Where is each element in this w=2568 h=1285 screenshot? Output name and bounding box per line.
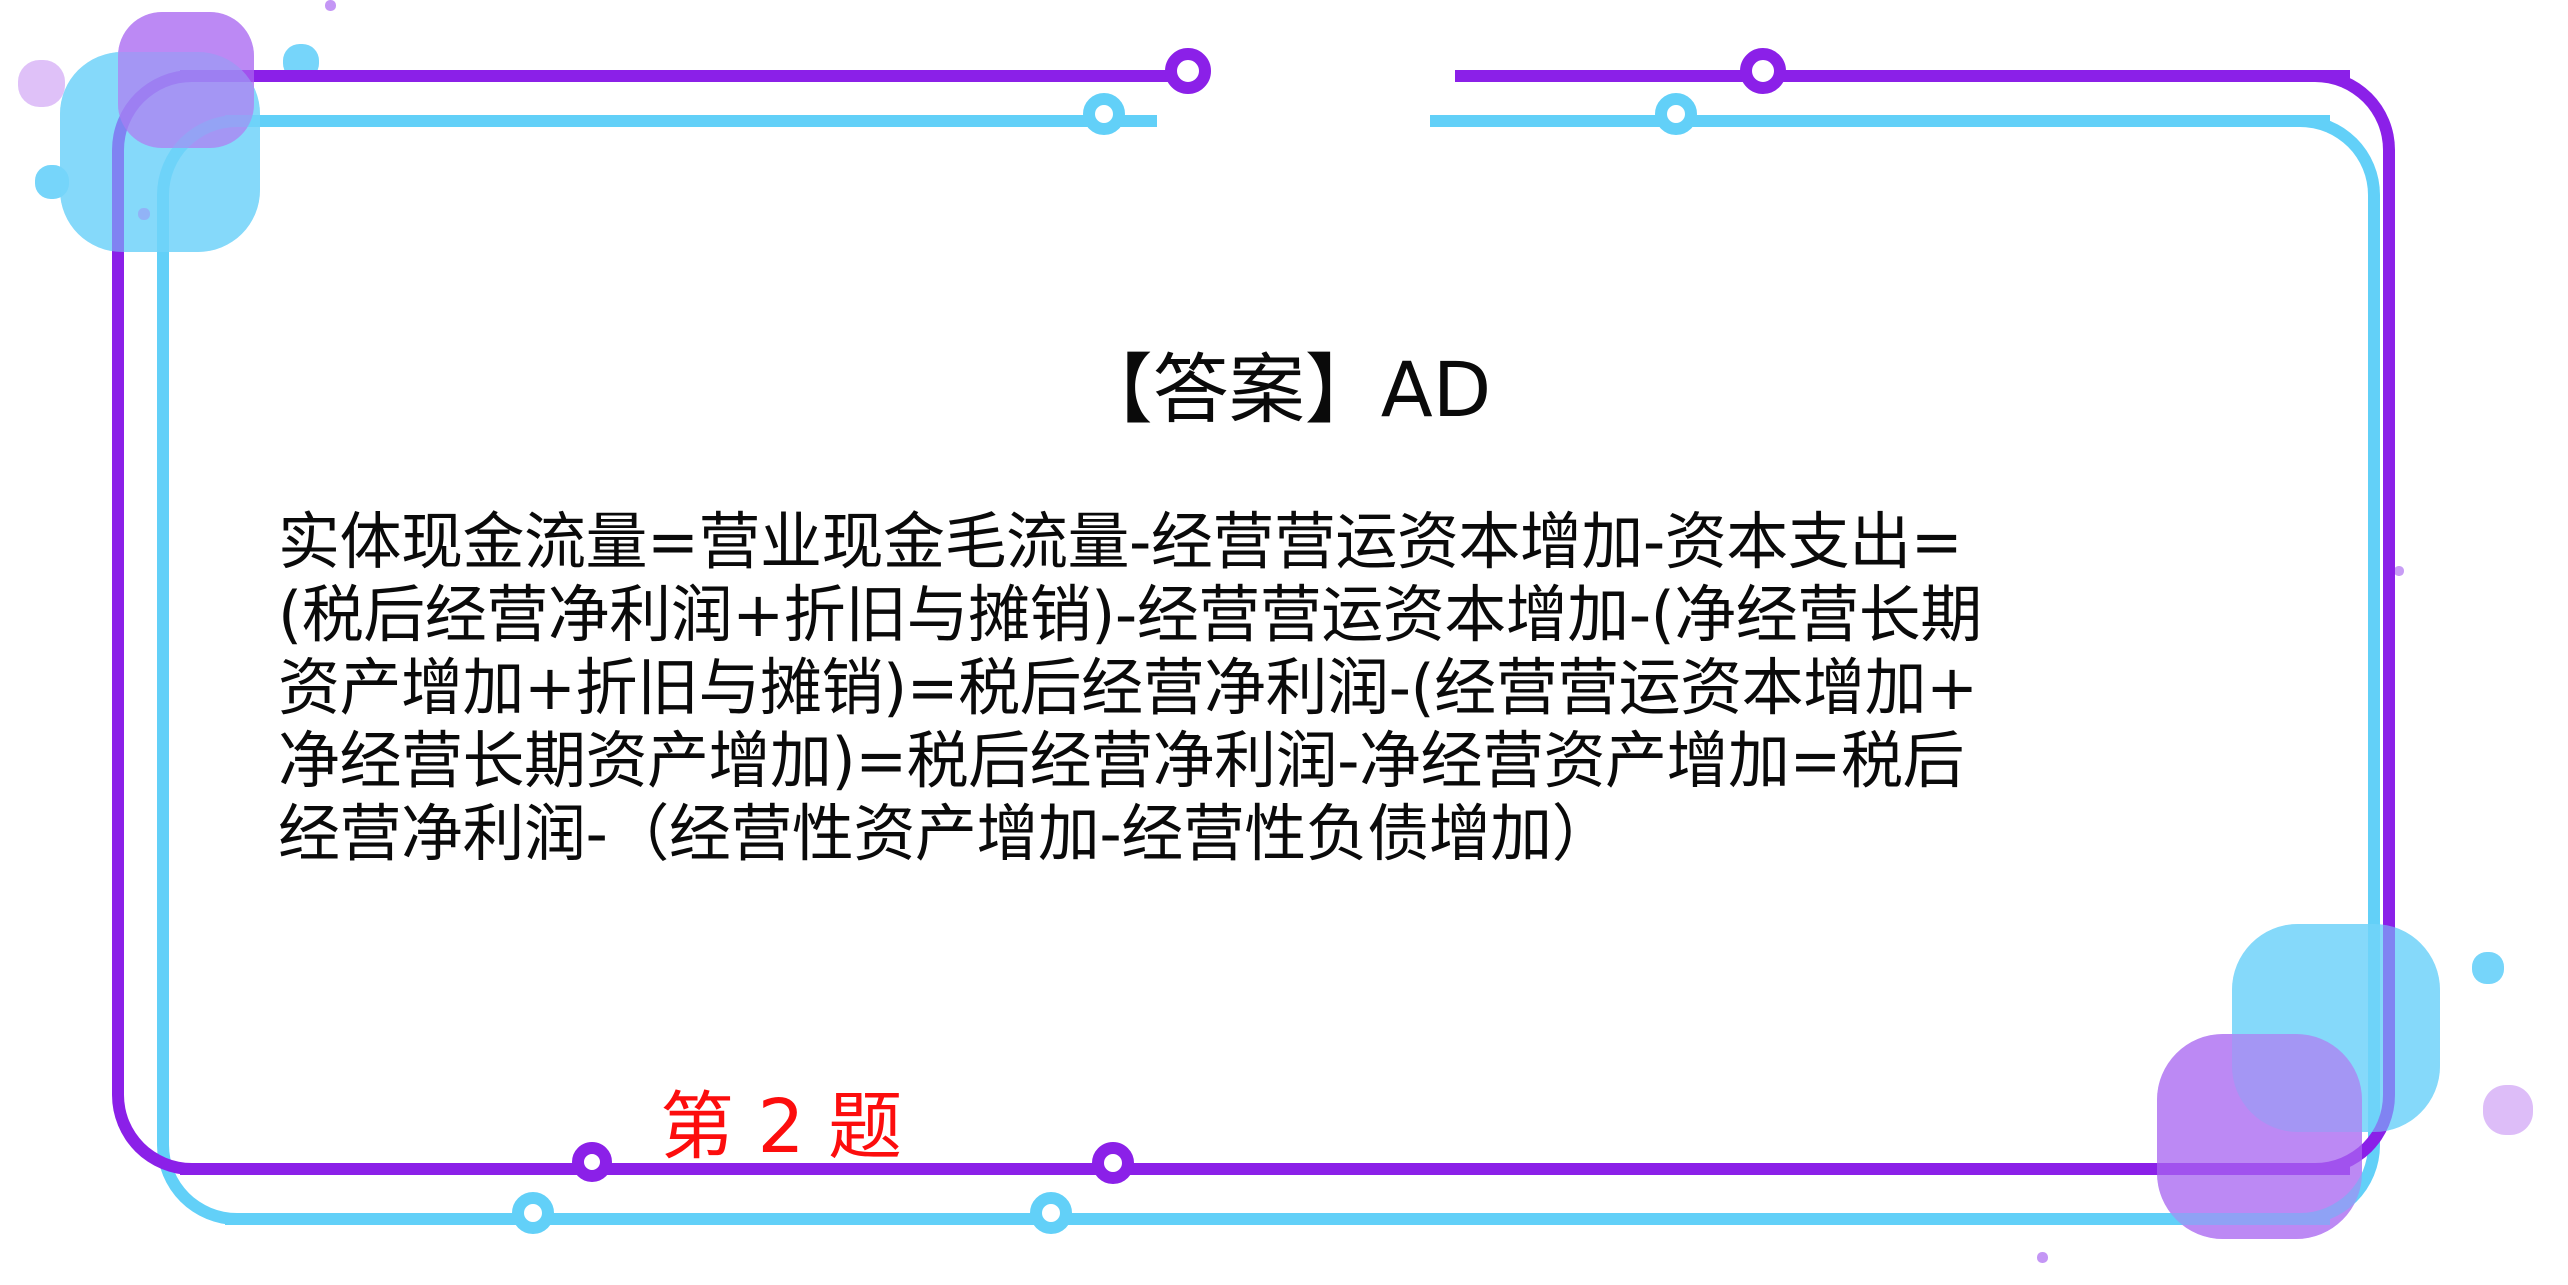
frame-purple-top-right-line: [1790, 70, 2350, 82]
poster-canvas: 【答案】AD 实体现金流量=营业现金毛流量-经营营运资本增加-资本支出= (税后…: [0, 0, 2568, 1285]
frame-purple-top-line: [180, 70, 1190, 82]
frame-cyan-bottom-left-line: [225, 1213, 535, 1225]
endpoint-purple-bottom-right: [1092, 1142, 1134, 1184]
endpoint-cyan-bottom-right: [1030, 1192, 1072, 1234]
frame-purple-bottom-left-line: [180, 1163, 595, 1175]
decor-dot-cyan-right: [2472, 952, 2504, 984]
decor-dot-lilac-tiny-top: [325, 0, 336, 11]
decor-dot-lilac-right: [2483, 1085, 2533, 1135]
decor-dot-lilac-left: [18, 60, 65, 107]
decor-square-purple-topleft-overlay: [118, 12, 254, 148]
endpoint-cyan-bottom-left: [512, 1192, 554, 1234]
endpoint-purple-bottom-left: [572, 1142, 612, 1182]
decor-dot-lilac-small-right: [2394, 566, 2404, 576]
endpoint-cyan-top-right: [1655, 93, 1697, 135]
endpoint-purple-top-right: [1740, 48, 1786, 94]
frame-purple-left-segment: [112, 70, 1192, 1175]
endpoint-purple-top-left: [1165, 48, 1211, 94]
decor-dot-lilac-tiny-bottom: [2037, 1252, 2048, 1263]
frame-cyan-bottom-right-line: [1080, 1213, 2330, 1225]
decor-square-purple-bottomright-overlay: [2157, 1034, 2362, 1239]
endpoint-cyan-top-left: [1083, 93, 1125, 135]
